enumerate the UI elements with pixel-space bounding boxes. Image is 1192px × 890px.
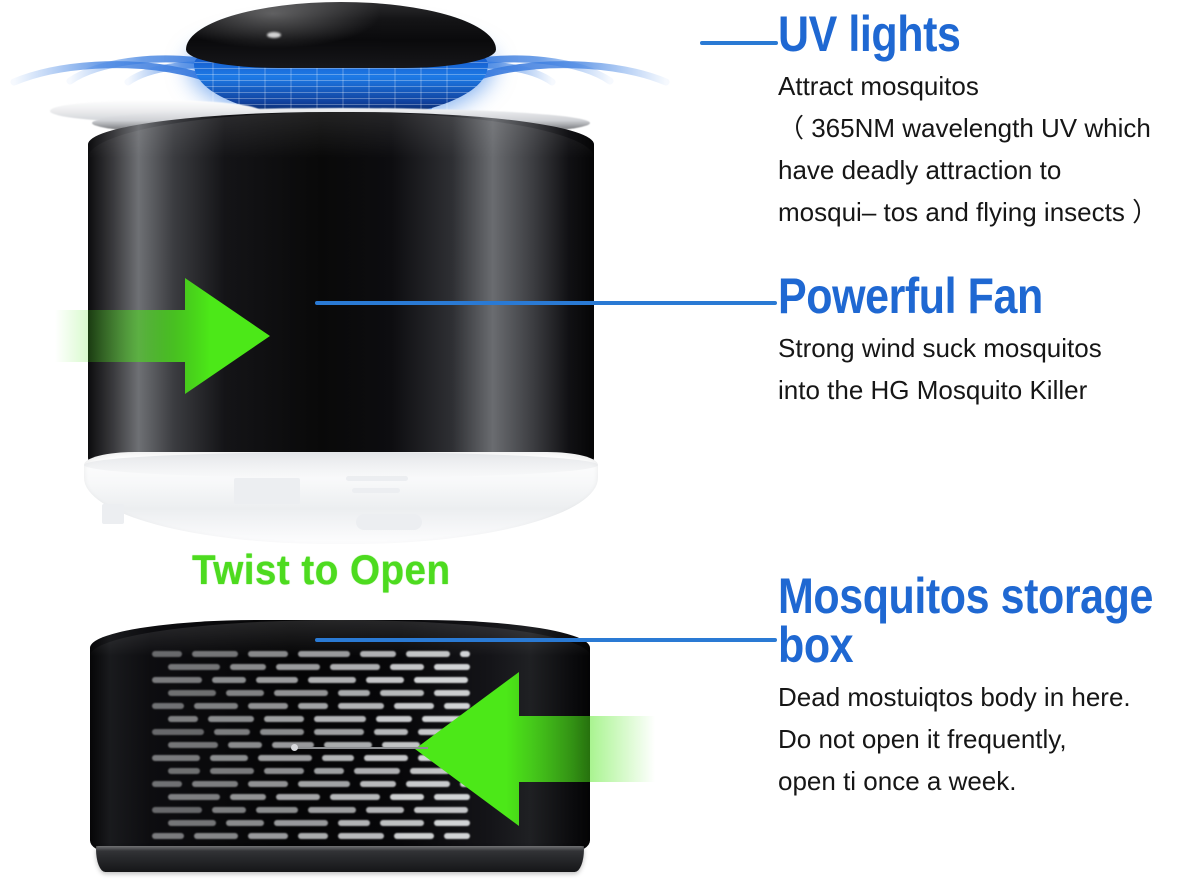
callout-title-uv-lights: UV lights xyxy=(778,10,1134,59)
vent-slot xyxy=(152,807,202,813)
callout-line: Dead mostuiqtos body in here. xyxy=(778,676,1192,718)
vent-slot xyxy=(248,703,288,709)
callout-line: into the HG Mosquito Killer xyxy=(778,369,1192,411)
twist-to-open-label: Twist to Open xyxy=(192,546,451,594)
vent-slot xyxy=(248,833,288,839)
white-base-shade xyxy=(84,452,598,478)
vent-slot xyxy=(274,820,328,826)
vent-slot xyxy=(308,807,356,813)
vent-slot xyxy=(330,664,380,670)
vent-slot xyxy=(322,755,354,761)
vent-slot xyxy=(212,677,246,683)
product-illustration: Twist to Open xyxy=(0,0,700,890)
vent-slot xyxy=(298,781,350,787)
vent-slot xyxy=(338,690,370,696)
vent-slot xyxy=(364,755,408,761)
vent-slot xyxy=(298,703,328,709)
leader-line-uv-lights xyxy=(700,41,778,45)
vent-slot xyxy=(230,794,266,800)
vent-slot xyxy=(168,664,220,670)
vent-slot xyxy=(360,781,396,787)
vent-slot xyxy=(276,664,320,670)
vent-slot xyxy=(258,755,312,761)
vent-slot xyxy=(314,716,366,722)
vent-slot xyxy=(338,703,384,709)
vent-slot xyxy=(354,768,400,774)
callout-uv-lights: UV lights Attract mosquitos （ 365NM wave… xyxy=(778,10,1192,233)
vent-slot xyxy=(276,794,320,800)
vent-slot xyxy=(226,820,264,826)
callout-title-powerful-fan: Powerful Fan xyxy=(778,272,1134,321)
vent-slot xyxy=(264,716,304,722)
vent-slot xyxy=(298,833,328,839)
callout-line: Do not open it frequently, xyxy=(778,718,1192,760)
vent-slot xyxy=(168,820,216,826)
vent-slot xyxy=(360,651,396,657)
vent-slot xyxy=(314,729,364,735)
vent-slot xyxy=(192,651,238,657)
vent-slot xyxy=(214,729,250,735)
vent-slot xyxy=(152,755,200,761)
vent-slot xyxy=(210,755,248,761)
storage-box-leader-dot xyxy=(291,744,298,751)
vent-slot xyxy=(152,781,182,787)
vent-slot xyxy=(264,768,304,774)
callout-line: Strong wind suck mosquitos xyxy=(778,327,1192,369)
vent-slot xyxy=(406,651,450,657)
callout-line: （ 365NM wavelength UV which xyxy=(778,107,1192,149)
vent-slot xyxy=(228,742,262,748)
vent-slot xyxy=(374,729,408,735)
vent-slot xyxy=(376,716,412,722)
vent-slot xyxy=(152,833,184,839)
vent-slot xyxy=(168,716,198,722)
airflow-arrow-left-icon xyxy=(415,660,655,838)
uv-lamp-dome xyxy=(186,2,496,118)
callout-line: have deadly attraction to xyxy=(778,149,1192,191)
vent-slot xyxy=(194,703,238,709)
vent-slot xyxy=(366,807,404,813)
vent-slot xyxy=(308,677,356,683)
vent-slot xyxy=(152,729,204,735)
callout-title-storage-box: Mosquitos storage box xyxy=(778,572,1191,670)
vent-slot xyxy=(226,690,264,696)
vent-slot xyxy=(168,768,200,774)
product-infographic: Twist to Open UV lights xyxy=(0,0,1192,890)
storage-box-base-plinth xyxy=(96,846,584,872)
vent-slot xyxy=(260,729,304,735)
vent-slot xyxy=(168,742,218,748)
vent-slot xyxy=(248,651,288,657)
callout-line: open ti once a week. xyxy=(778,760,1192,802)
vent-slot xyxy=(152,703,184,709)
vent-slot xyxy=(256,677,298,683)
dome-cap xyxy=(186,2,496,68)
callout-line: mosqui– tos and flying insects ） xyxy=(778,191,1192,233)
vent-slot xyxy=(274,690,328,696)
callout-body-storage-box: Dead mostuiqtos body in here. Do not ope… xyxy=(778,670,1192,802)
vent-slot xyxy=(212,807,246,813)
vent-slot xyxy=(248,781,288,787)
vent-slot xyxy=(230,664,266,670)
vent-slot xyxy=(366,677,404,683)
vent-slot xyxy=(330,794,380,800)
vent-slot xyxy=(168,690,216,696)
callout-line: Attract mosquitos xyxy=(778,65,1192,107)
callout-body-powerful-fan: Strong wind suck mosquitos into the HG M… xyxy=(778,321,1192,411)
vent-slot xyxy=(152,651,182,657)
vent-slot xyxy=(298,651,350,657)
leader-line-storage-box xyxy=(315,638,777,642)
vent-slot xyxy=(338,833,384,839)
vent-slot xyxy=(208,716,254,722)
vent-slot xyxy=(338,820,370,826)
airflow-arrow-right-icon xyxy=(55,268,270,404)
vent-slot xyxy=(192,781,238,787)
vent-slot xyxy=(210,768,254,774)
vent-slot xyxy=(152,677,202,683)
callout-body-uv-lights: Attract mosquitos （ 365NM wavelength UV … xyxy=(778,59,1192,233)
vent-slot xyxy=(314,768,344,774)
vent-slot xyxy=(460,651,470,657)
leader-line-powerful-fan xyxy=(315,301,777,305)
vent-slot xyxy=(168,794,220,800)
callout-powerful-fan: Powerful Fan Strong wind suck mosquitos … xyxy=(778,272,1192,411)
vent-slot xyxy=(256,807,298,813)
vent-slot xyxy=(194,833,238,839)
callout-mosquitos-storage-box: Mosquitos storage box Dead mostuiqtos bo… xyxy=(778,572,1192,802)
storage-box-inner-leader xyxy=(295,747,428,749)
